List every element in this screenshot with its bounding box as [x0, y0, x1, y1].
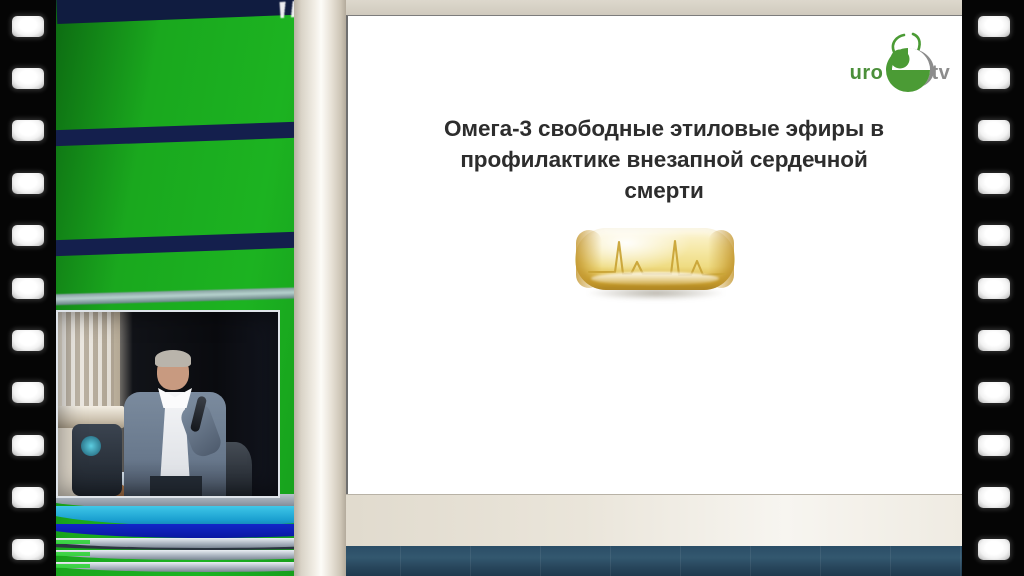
pip-vignette: [58, 312, 278, 496]
film-sprocket-hole: [12, 382, 44, 403]
film-sprocket-hole: [12, 278, 44, 299]
video-player-frame: uro tv Омега-3 свободные этиловые эфиры …: [0, 0, 1024, 576]
slide-image-area: [348, 228, 962, 328]
film-sprocket-hole: [12, 16, 44, 37]
capsule-gloss: [591, 272, 719, 285]
presentation-slide-zone: uro tv Омега-3 свободные этиловые эфиры …: [330, 0, 962, 576]
slide-title: Омега-3 свободные этиловые эфиры в профи…: [422, 113, 906, 206]
slide-lower-beige-band: [330, 494, 962, 546]
logo-text-right: tv: [932, 62, 951, 84]
film-sprocket-hole: [978, 435, 1010, 456]
film-sprocket-hole: [12, 120, 44, 141]
film-sprocket-hole: [978, 173, 1010, 194]
film-sprocket-hole: [978, 278, 1010, 299]
film-sprocket-hole: [12, 330, 44, 351]
film-sprocket-hole: [978, 487, 1010, 508]
film-sprocket-hole: [12, 68, 44, 89]
slide-lower-blue-band: [330, 546, 962, 576]
film-sprocket-hole: [978, 16, 1010, 37]
speaker-video-pip[interactable]: [56, 310, 280, 498]
film-strip-right: [962, 0, 1024, 576]
desk-green-accent: [56, 540, 90, 574]
film-sprocket-hole: [978, 382, 1010, 403]
film-sprocket-hole: [978, 120, 1010, 141]
urotv-logo[interactable]: uro tv: [846, 32, 954, 94]
film-sprocket-hole: [12, 539, 44, 560]
studio-pillar: [294, 0, 346, 576]
presentation-slide[interactable]: uro tv Омега-3 свободные этиловые эфиры …: [346, 15, 962, 494]
film-strip-left: [0, 0, 56, 576]
film-sprocket-hole: [978, 225, 1010, 246]
film-sprocket-hole: [12, 225, 44, 246]
film-sprocket-hole: [978, 330, 1010, 351]
logo-text-left: uro: [850, 62, 884, 84]
film-sprocket-hole: [978, 68, 1010, 89]
film-sprocket-hole: [978, 539, 1010, 560]
film-sprocket-hole: [12, 173, 44, 194]
slide-top-band: [346, 0, 962, 16]
omega3-capsule-icon: [575, 228, 735, 292]
film-sprocket-hole: [12, 487, 44, 508]
logo-text: uro tv: [846, 62, 954, 85]
film-sprocket-hole: [12, 435, 44, 456]
